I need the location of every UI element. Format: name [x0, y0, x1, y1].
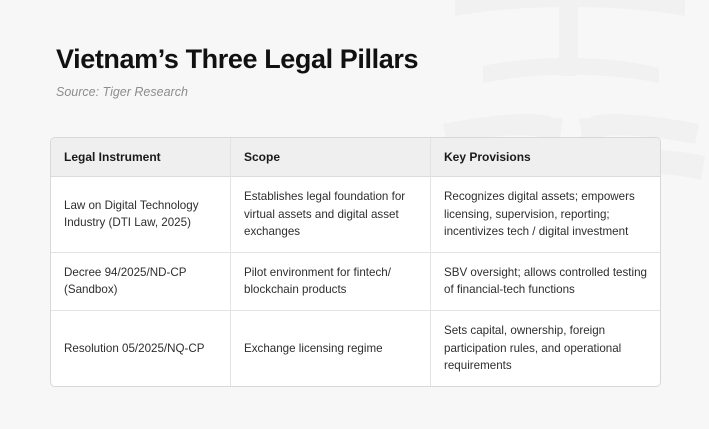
cell-scope: Pilot environment for fintech/ blockchai…: [231, 253, 431, 311]
document-header: Vietnam’s Three Legal Pillars Source: Ti…: [56, 44, 418, 100]
column-header-key-provisions: Key Provisions: [431, 138, 660, 177]
cell-key-provisions: Recognizes digital assets; empowers lice…: [431, 177, 660, 253]
cell-legal-instrument: Resolution 05/2025/NQ-CP: [51, 311, 231, 386]
page-title: Vietnam’s Three Legal Pillars: [56, 44, 418, 75]
legal-pillars-table: Legal Instrument Scope Key Provisions La…: [50, 137, 661, 387]
cell-scope: Establishes legal foundation for virtual…: [231, 177, 431, 253]
table-body: Law on Digital Technology Industry (DTI …: [51, 177, 660, 386]
table-header-row: Legal Instrument Scope Key Provisions: [51, 138, 660, 177]
cell-key-provisions: Sets capital, ownership, foreign partici…: [431, 311, 660, 386]
document-page: Vietnam’s Three Legal Pillars Source: Ti…: [0, 0, 709, 429]
cell-legal-instrument: Decree 94/2025/ND-CP (Sandbox): [51, 253, 231, 311]
legal-pillars-table-container: Legal Instrument Scope Key Provisions La…: [50, 137, 659, 387]
table-header: Legal Instrument Scope Key Provisions: [51, 138, 660, 177]
column-header-legal-instrument: Legal Instrument: [51, 138, 231, 177]
cell-legal-instrument: Law on Digital Technology Industry (DTI …: [51, 177, 231, 253]
table-row: Resolution 05/2025/NQ-CP Exchange licens…: [51, 311, 660, 386]
source-attribution: Source: Tiger Research: [56, 85, 418, 100]
table-row: Decree 94/2025/ND-CP (Sandbox) Pilot env…: [51, 253, 660, 311]
table-row: Law on Digital Technology Industry (DTI …: [51, 177, 660, 253]
cell-key-provisions: SBV oversight; allows controlled testing…: [431, 253, 660, 311]
column-header-scope: Scope: [231, 138, 431, 177]
cell-scope: Exchange licensing regime: [231, 311, 431, 386]
